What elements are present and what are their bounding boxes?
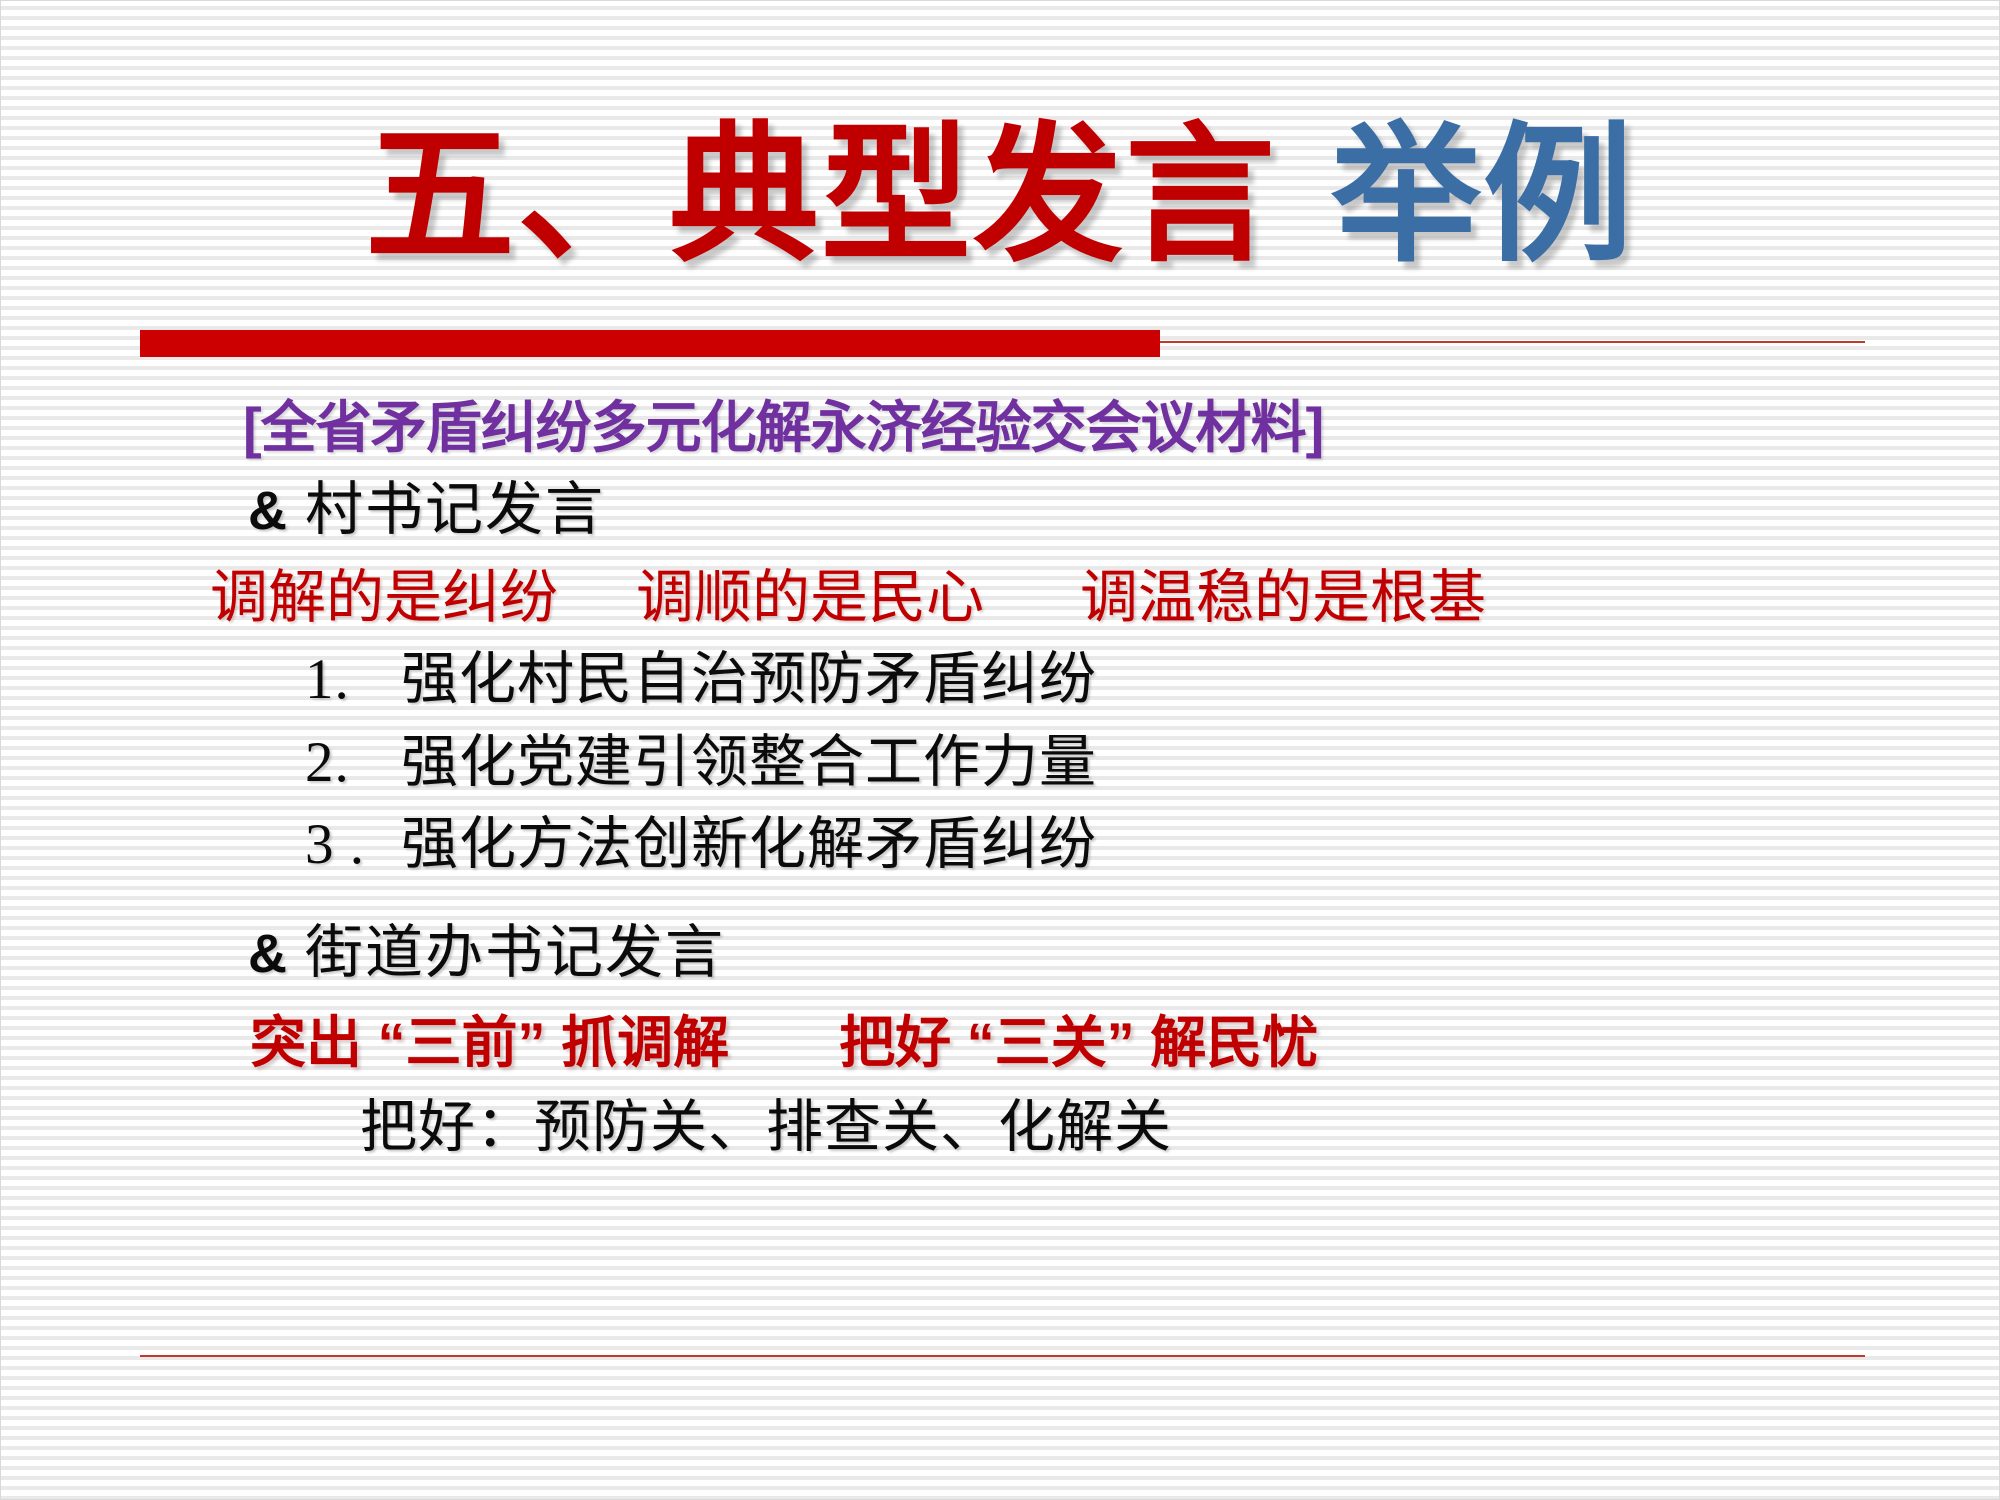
footer-rule — [140, 1355, 1865, 1357]
quote-part-a: 突出 “三前” 抓调解 — [250, 1011, 729, 1074]
list-item-index: 3 . — [305, 815, 401, 875]
page-title: 五、典型发言 举例 — [0, 120, 2000, 270]
title-underline-thick — [140, 330, 1160, 357]
ampersand-bullet-icon: & — [248, 481, 287, 541]
list-item-index: 2. — [305, 733, 401, 793]
ampersand-bullet-icon: & — [248, 924, 287, 984]
list-item-label: 强化方法创新化解矛盾纠纷 — [401, 813, 1097, 876]
page-title-blue-part: 举例 — [1331, 111, 1635, 279]
list-item: 2.强化党建引领整合工作力量 — [0, 733, 2000, 793]
list-item: 3 .强化方法创新化解矛盾纠纷 — [0, 815, 2000, 875]
section-heading-label: 村书记发言 — [305, 477, 605, 542]
list-item: 1.强化村民自治预防矛盾纠纷 — [0, 650, 2000, 710]
detail-line: 把好：预防关、排查关、化解关 — [0, 1098, 2000, 1158]
page-title-red-part: 五、典型发言 — [365, 111, 1277, 279]
slogan-row-village: 调解的是纠纷调顺的是民心调温稳的是根基 — [0, 567, 2000, 628]
section-heading-village-secretary: &村书记发言 — [0, 479, 2000, 540]
slogan-row-street: 突出 “三前” 抓调解把好 “三关” 解民忧 — [0, 1013, 2000, 1072]
list-item-index: 1. — [305, 650, 401, 710]
section-heading-street-office-secretary: &街道办书记发言 — [0, 922, 2000, 983]
slogan-part-b: 调顺的是民心 — [636, 565, 984, 630]
list-item-label: 强化村民自治预防矛盾纠纷 — [401, 648, 1097, 711]
slide-body: [全省矛盾纠纷多元化解永济经验交会议材料] &村书记发言 调解的是纠纷调顺的是民… — [0, 398, 2000, 1159]
slogan-part-c: 调温稳的是根基 — [1080, 565, 1486, 630]
quote-part-b: 把好 “三关” 解民忧 — [839, 1011, 1318, 1074]
slogan-part-a: 调解的是纠纷 — [210, 565, 558, 630]
source-note: [全省矛盾纠纷多元化解永济经验交会议材料] — [0, 398, 2000, 457]
list-item-label: 强化党建引领整合工作力量 — [401, 731, 1097, 794]
slide-canvas: 五、典型发言 举例 [全省矛盾纠纷多元化解永济经验交会议材料] &村书记发言 调… — [0, 0, 2000, 1500]
section-heading-label: 街道办书记发言 — [305, 920, 725, 985]
